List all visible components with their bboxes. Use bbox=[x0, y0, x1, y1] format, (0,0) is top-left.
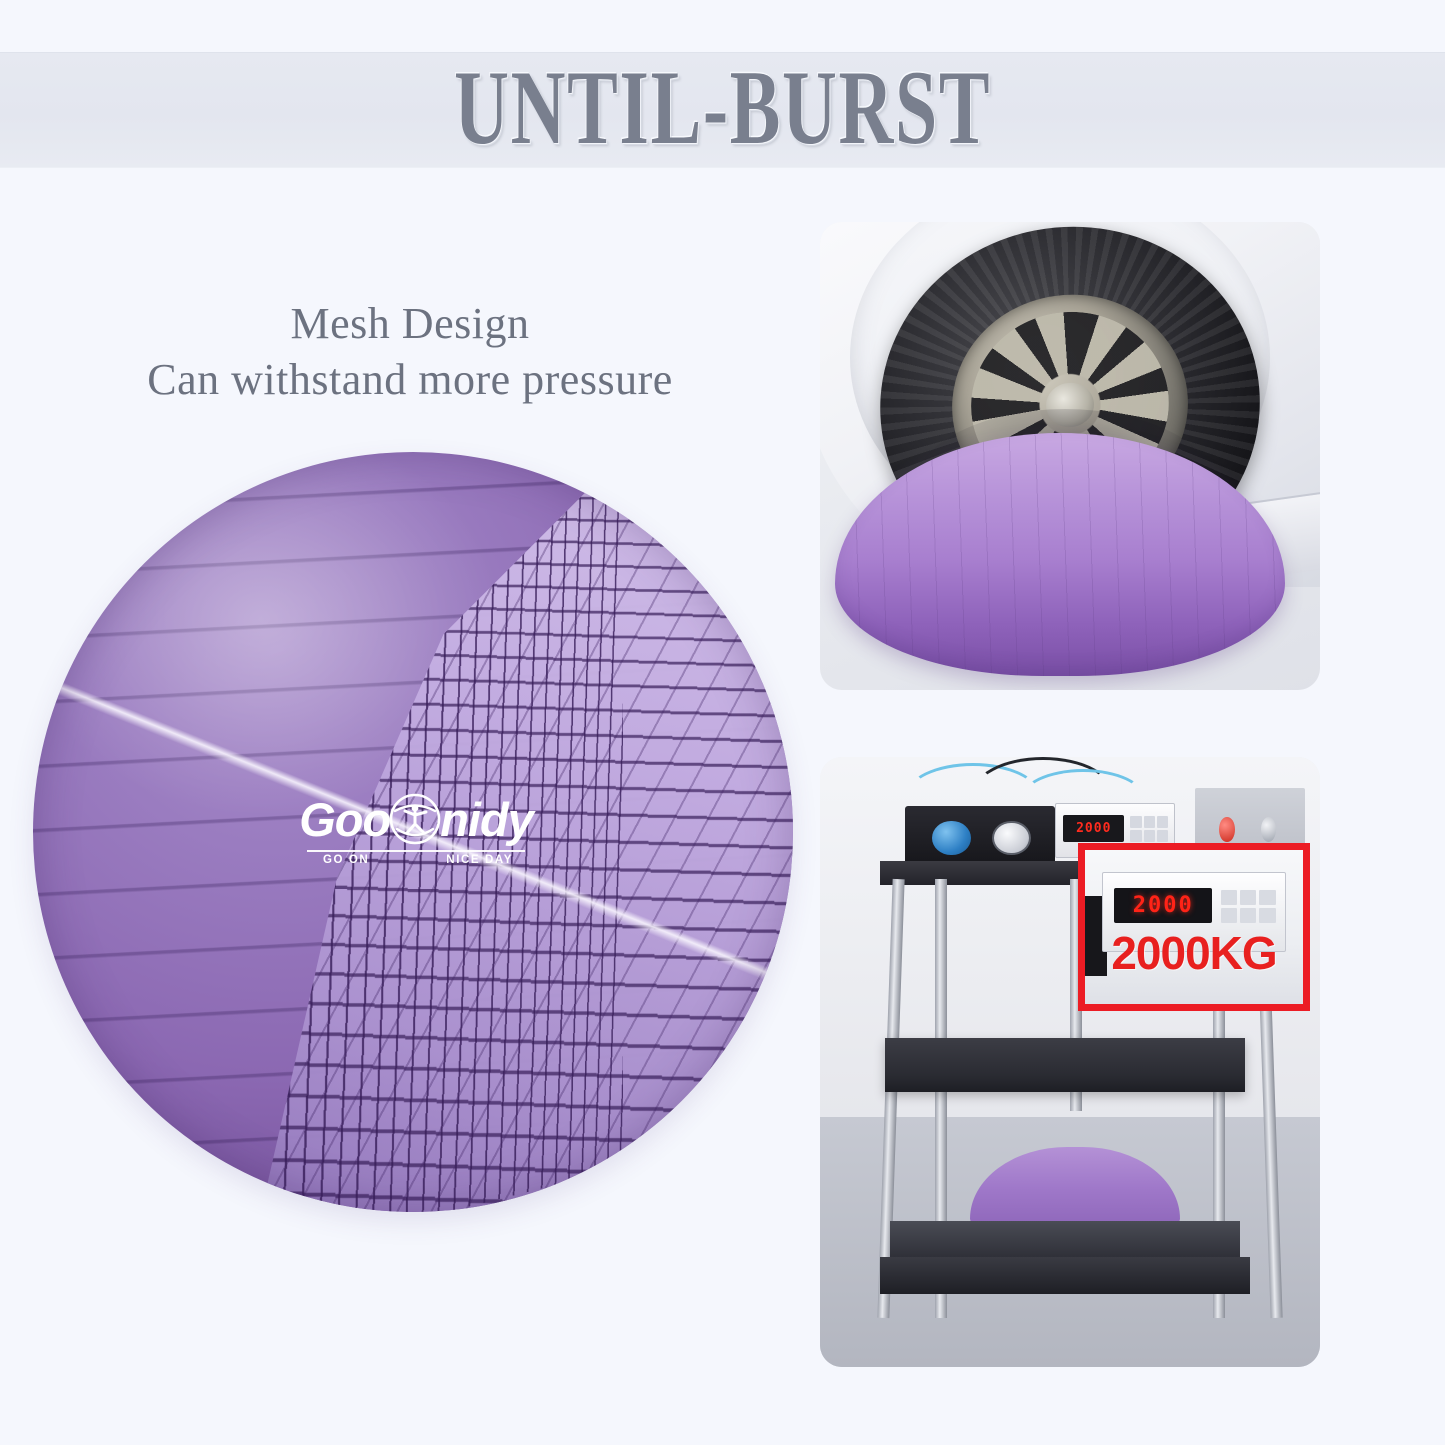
keypad-key bbox=[1130, 830, 1141, 842]
brand-tagline-left: GO ON bbox=[323, 854, 369, 866]
scale-keypad bbox=[1130, 816, 1168, 841]
header-band bbox=[0, 52, 1445, 168]
press-upper-plate bbox=[885, 1038, 1245, 1093]
product-ball-illustration: Goo nidy GO ON NICE DAY bbox=[33, 452, 793, 1212]
callout-led-readout: 2000 bbox=[1114, 888, 1212, 922]
pressure-gauge bbox=[992, 821, 1031, 856]
brand-wordmark-row: Goo nidy bbox=[301, 790, 531, 848]
keypad-key bbox=[1259, 908, 1275, 923]
brand-tagline-row: GO ON NICE DAY bbox=[301, 854, 531, 866]
scale-led-readout: 2000 bbox=[1063, 815, 1124, 841]
weight-callout-box: 2000 2000KG bbox=[1078, 843, 1310, 1011]
panel-tire-load-demo bbox=[820, 222, 1320, 690]
press-base bbox=[880, 1257, 1250, 1294]
callout-weight-label: 2000KG bbox=[1085, 930, 1303, 976]
brand-word-left: Goo bbox=[299, 796, 390, 843]
tire-scene bbox=[820, 222, 1320, 690]
keypad-key bbox=[1157, 816, 1168, 828]
keypad-key bbox=[1240, 908, 1256, 923]
keypad-key bbox=[1157, 830, 1168, 842]
callout-keypad bbox=[1221, 890, 1275, 923]
keypad-key bbox=[1221, 890, 1237, 905]
keypad-key bbox=[1144, 830, 1155, 842]
keypad-key bbox=[1130, 816, 1141, 828]
keypad-key bbox=[1221, 908, 1237, 923]
yoga-figure-circle-icon bbox=[387, 791, 443, 847]
emergency-stop-button bbox=[1219, 817, 1234, 842]
feature-copy-line-2: Can withstand more pressure bbox=[60, 352, 760, 408]
brand-tagline-right: NICE DAY bbox=[446, 854, 513, 866]
press-lower-plate bbox=[890, 1221, 1240, 1261]
product-feature-page: UNTIL-BURST Mesh Design Can withstand mo… bbox=[0, 0, 1445, 1445]
brand-word-right: nidy bbox=[440, 796, 533, 843]
brand-logo: Goo nidy GO ON NICE DAY bbox=[301, 790, 531, 882]
brand-underline bbox=[307, 850, 525, 852]
keypad-key bbox=[1259, 890, 1275, 905]
start-button bbox=[1261, 817, 1276, 842]
feature-copy-line-1: Mesh Design bbox=[60, 296, 760, 352]
pressure-knob bbox=[932, 821, 971, 856]
keypad-key bbox=[1240, 890, 1256, 905]
keypad-key bbox=[1144, 816, 1155, 828]
feature-copy-block: Mesh Design Can withstand more pressure bbox=[60, 296, 760, 409]
